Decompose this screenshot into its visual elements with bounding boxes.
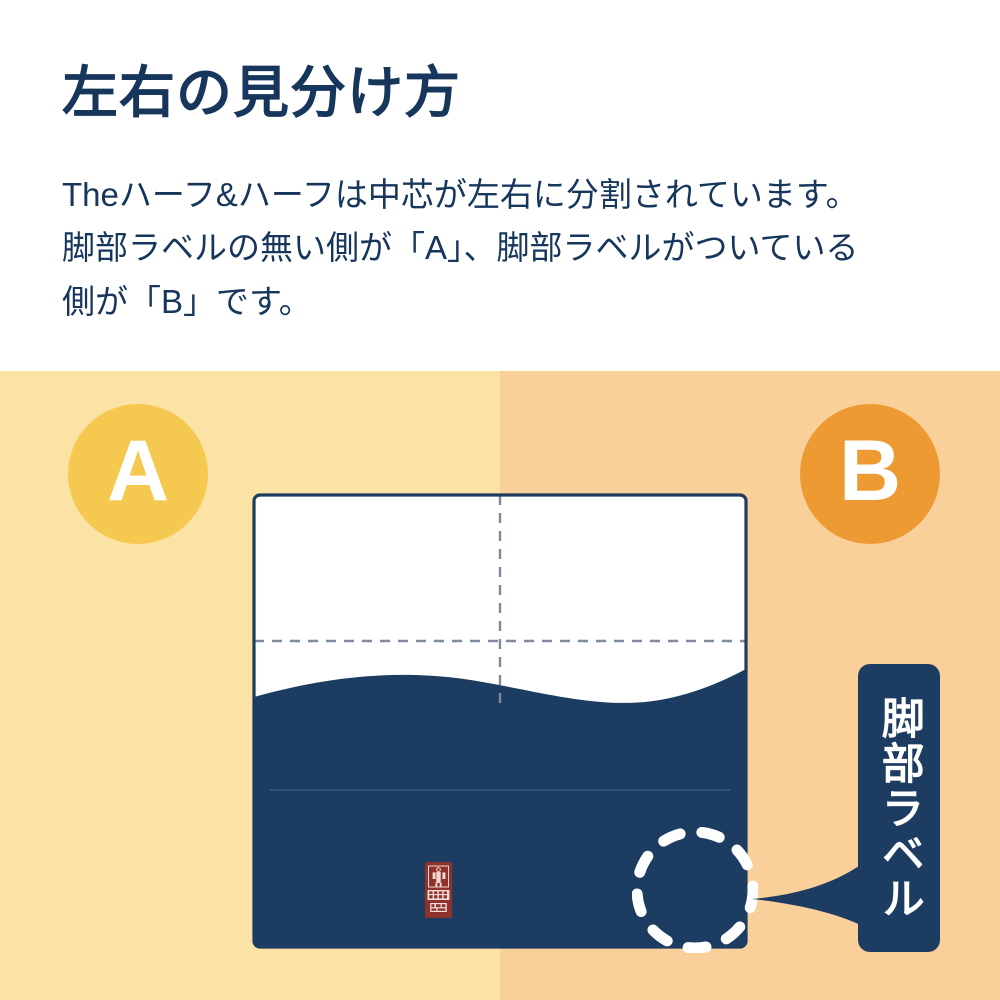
illustration-panel: A B xyxy=(0,371,1000,1000)
description-line-3: 側が「B」です。 xyxy=(62,275,962,328)
callout-tail xyxy=(746,858,866,930)
description-text: Theハーフ&ハーフは中芯が左右に分割されています。 脚部ラベルの無い側が「A」… xyxy=(62,168,962,328)
badge-b-label: B xyxy=(839,428,901,514)
page-title: 左右の見分け方 xyxy=(62,62,461,124)
dashed-highlight-circle xyxy=(632,827,758,953)
badge-a-label: A xyxy=(107,428,169,514)
description-line-2: 脚部ラベルの無い側が「A」、脚部ラベルがついている xyxy=(62,221,962,274)
text-panel: 左右の見分け方 Theハーフ&ハーフは中芯が左右に分割されています。 脚部ラベル… xyxy=(0,0,1000,371)
description-line-1: Theハーフ&ハーフは中芯が左右に分割されています。 xyxy=(62,168,962,221)
care-label-tag xyxy=(425,862,452,918)
callout-box: 脚部ラベル xyxy=(858,664,940,952)
badge-b: B xyxy=(800,404,940,544)
callout-label: 脚部ラベル xyxy=(873,696,925,921)
page-root: 左右の見分け方 Theハーフ&ハーフは中芯が左右に分割されています。 脚部ラベル… xyxy=(0,0,1000,1000)
badge-a: A xyxy=(68,404,208,544)
